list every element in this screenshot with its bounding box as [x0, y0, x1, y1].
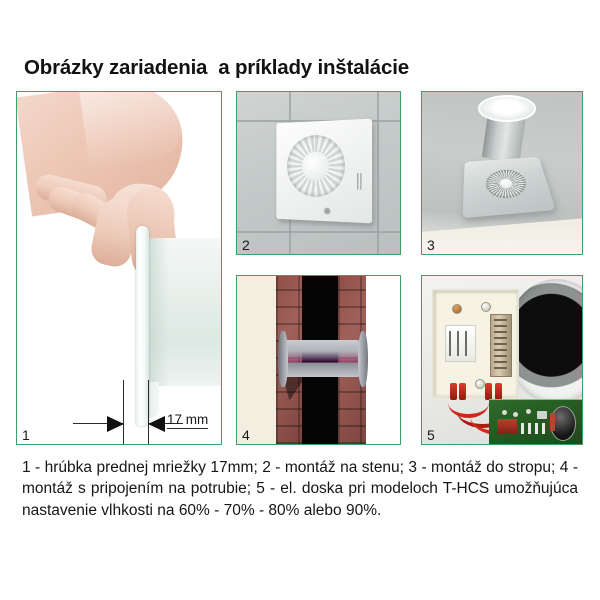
pipe-flange-right [358, 331, 369, 386]
figure-number-1: 1 [22, 427, 30, 443]
ceiling-mounted-fan [462, 157, 555, 218]
wall-mounted-fan: ◉ [276, 119, 371, 224]
fan-grille-ring [484, 169, 528, 200]
figure-panel-1: 17 mm 1 [16, 91, 222, 445]
plaster-layer-left [237, 276, 276, 444]
pcb-pin-header [521, 423, 547, 434]
dimension-extension-line-right [148, 380, 149, 445]
figure-caption: 1 - hrúbka prednej mriežky 17mm; 2 - mon… [22, 457, 578, 521]
pcb-component [550, 413, 555, 430]
pcb-component-red [497, 419, 517, 434]
figure-panel-4: 4 [236, 275, 401, 445]
figure-panel-5: 5 [421, 275, 583, 445]
board-screw [452, 304, 462, 314]
dimension-extension-line-left [123, 380, 124, 445]
figure-number-3: 3 [427, 237, 435, 253]
page-title: Obrázky zariadenia a príklady inštalácie [24, 56, 409, 80]
figure-1-illustration: 17 mm [17, 92, 221, 444]
fan-side-vent [357, 173, 363, 190]
dimension-arrow-right-icon [148, 416, 165, 432]
figure-panel-2: ◉ 2 [236, 91, 401, 255]
figure-number-5: 5 [427, 427, 435, 443]
pcb-component [526, 409, 531, 414]
fan-grille-hub [499, 179, 512, 189]
pcb-component [502, 410, 507, 415]
dimension-label: 17 mm [167, 412, 208, 429]
pipe-flange-left [278, 331, 288, 386]
board-connector [490, 314, 512, 376]
figure-number-4: 4 [242, 427, 250, 443]
fan-grille-ring [287, 134, 345, 198]
pcb-component [513, 412, 518, 417]
duct-collar [478, 95, 536, 122]
dimension-arrow-left-icon [107, 416, 124, 432]
fan-body-side-view [147, 238, 222, 386]
pcb-component [537, 411, 546, 419]
figure-3-illustration [422, 92, 582, 254]
green-circuit-board [489, 399, 582, 444]
figure-2-illustration: ◉ [237, 92, 400, 254]
figure-number-2: 2 [242, 237, 250, 253]
figure-4-illustration [237, 276, 400, 444]
plaster-layer-right [366, 276, 400, 444]
figure-panel-3: 3 [421, 91, 583, 255]
control-board-well [432, 289, 519, 397]
figure-5-illustration [422, 276, 582, 444]
ceiling-edge-band [422, 218, 582, 254]
humidity-dip-switch [445, 325, 475, 362]
fan-brand-logo: ◉ [324, 207, 331, 216]
ventilation-duct-pipe [283, 340, 361, 377]
board-screw [481, 302, 491, 312]
fan-grille-hub [302, 152, 329, 181]
tile-grout-horizontal [237, 231, 400, 233]
tile-grout-vertical [377, 92, 379, 254]
